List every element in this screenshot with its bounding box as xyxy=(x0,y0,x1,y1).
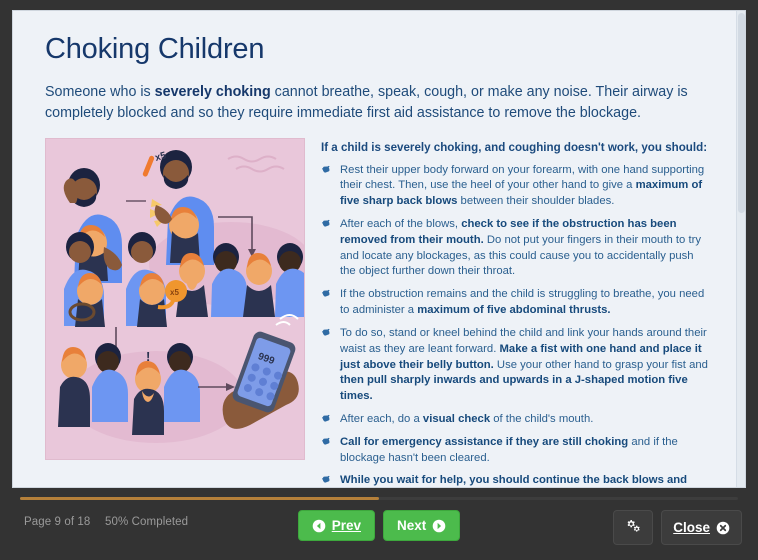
close-circle-icon xyxy=(716,521,730,535)
fist-hand-icon xyxy=(321,326,334,405)
player-tools: Close xyxy=(613,510,742,545)
fist-hand-icon xyxy=(321,287,334,319)
prev-button-label: Prev xyxy=(332,518,361,533)
step-item: Rest their upper body forward on your fo… xyxy=(321,163,711,210)
step-text: To do so, stand or kneel behind the chil… xyxy=(340,326,711,405)
plain-text: Someone who is xyxy=(45,84,155,100)
intro-paragraph: Someone who is severely choking cannot b… xyxy=(45,82,711,123)
step-item: After each, do a visual check of the chi… xyxy=(321,412,711,428)
plain-text: between their shoulder blades. xyxy=(457,195,614,207)
fist-hand-icon xyxy=(321,473,334,488)
step-item: To do so, stand or kneel behind the chil… xyxy=(321,326,711,405)
fist-hand-icon xyxy=(321,412,334,428)
next-button[interactable]: Next xyxy=(383,510,460,541)
course-progress-fill xyxy=(20,497,379,500)
fist-hand-icon xyxy=(321,163,334,210)
gears-icon xyxy=(624,518,642,537)
illustration-column: x5 ! xyxy=(45,138,305,460)
emphasis-text: severely choking xyxy=(155,84,271,100)
close-button-label: Close xyxy=(673,520,710,535)
emphasis-text: visual check xyxy=(423,413,490,425)
emphasis-text: Call for emergency assistance if they ar… xyxy=(340,436,628,448)
arrow-left-circle-icon xyxy=(312,519,326,533)
content-scrollbar[interactable] xyxy=(736,11,745,487)
slide-content-panel: Choking Children Someone who is severely… xyxy=(12,10,746,488)
close-button[interactable]: Close xyxy=(661,510,742,545)
step-text: After each of the blows, check to see if… xyxy=(340,217,711,280)
plain-text: After each of the blows, xyxy=(340,218,461,230)
choking-procedure-illustration: x5 ! xyxy=(45,138,305,460)
course-progress-bar xyxy=(20,497,738,500)
steps-lead-in: If a child is severely choking, and coug… xyxy=(321,140,711,155)
player-bottom-bar: Page 9 of 18 50% Completed Prev Next xyxy=(0,502,758,560)
emphasis-text: While you wait for help, you should cont… xyxy=(340,474,687,488)
emphasis-text: then pull sharply inwards and upwards in… xyxy=(340,374,688,402)
step-text: While you wait for help, you should cont… xyxy=(340,473,711,488)
steps-column: If a child is severely choking, and coug… xyxy=(321,138,711,489)
step-item: While you wait for help, you should cont… xyxy=(321,473,711,488)
step-item: After each of the blows, check to see if… xyxy=(321,217,711,280)
prev-button[interactable]: Prev xyxy=(298,510,375,541)
content-columns: x5 ! xyxy=(45,138,711,489)
svg-text:x5: x5 xyxy=(170,288,179,297)
settings-button[interactable] xyxy=(613,510,653,545)
steps-list: Rest their upper body forward on your fo… xyxy=(321,163,711,488)
plain-text: of the child's mouth. xyxy=(490,413,593,425)
fist-hand-icon xyxy=(321,217,334,280)
step-text: If the obstruction remains and the child… xyxy=(340,287,711,319)
step-text: Rest their upper body forward on your fo… xyxy=(340,163,711,210)
scrollbar-thumb[interactable] xyxy=(738,13,745,213)
plain-text: After each, do a xyxy=(340,413,423,425)
fist-hand-icon xyxy=(321,435,334,467)
arrow-right-circle-icon xyxy=(432,519,446,533)
step-text: After each, do a visual check of the chi… xyxy=(340,412,593,428)
plain-text: Use your other hand to grasp your fist a… xyxy=(494,359,708,371)
course-player: Choking Children Someone who is severely… xyxy=(0,0,758,560)
next-button-label: Next xyxy=(397,518,426,533)
page-title: Choking Children xyxy=(45,33,711,66)
illustration-svg: x5 ! xyxy=(46,139,305,460)
step-item: Call for emergency assistance if they ar… xyxy=(321,435,711,467)
step-text: Call for emergency assistance if they ar… xyxy=(340,435,711,467)
emphasis-text: maximum of five abdominal thrusts. xyxy=(417,304,610,316)
step-item: If the obstruction remains and the child… xyxy=(321,287,711,319)
